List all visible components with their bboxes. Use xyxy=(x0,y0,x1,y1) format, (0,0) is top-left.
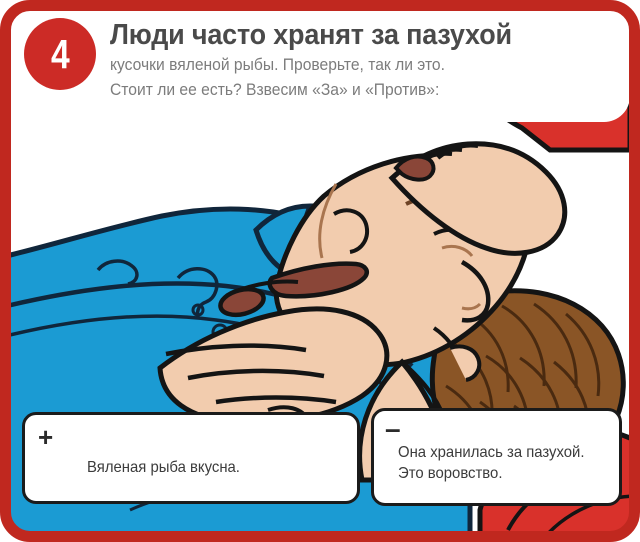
pro-text: Вяленая рыба вкусна. xyxy=(87,457,240,478)
pro-box: + Вяленая рыба вкусна. xyxy=(22,412,360,504)
step-number-label: 4 xyxy=(51,34,69,75)
con-box: – Она хранилась за пазухой. Это воровств… xyxy=(371,408,622,506)
header-text-block: Люди часто хранят за пазухой кусочки вял… xyxy=(110,20,625,102)
fingertip-upper xyxy=(396,156,433,179)
poster: 4 Люди часто хранят за пазухой кусочки в… xyxy=(0,0,640,542)
subtitle-line-1: кусочки вяленой рыбы. Проверьте, так ли … xyxy=(110,54,584,76)
con-line-2: Это воровство. xyxy=(398,463,584,484)
plus-icon: + xyxy=(38,424,53,450)
step-number-badge: 4 xyxy=(24,18,96,90)
con-text: Она хранилась за пазухой. Это воровство. xyxy=(398,442,584,484)
subtitle-line-2: Стоит ли ее есть? Взвесим «За» и «Против… xyxy=(110,79,584,101)
verdict-boxes: + Вяленая рыба вкусна. – Она хранилась з… xyxy=(0,408,640,513)
minus-icon: – xyxy=(385,415,401,443)
con-line-1: Она хранилась за пазухой. xyxy=(398,442,584,463)
pro-line-1: Вяленая рыба вкусна. xyxy=(87,457,240,478)
page-title: Люди часто хранят за пазухой xyxy=(110,20,589,51)
